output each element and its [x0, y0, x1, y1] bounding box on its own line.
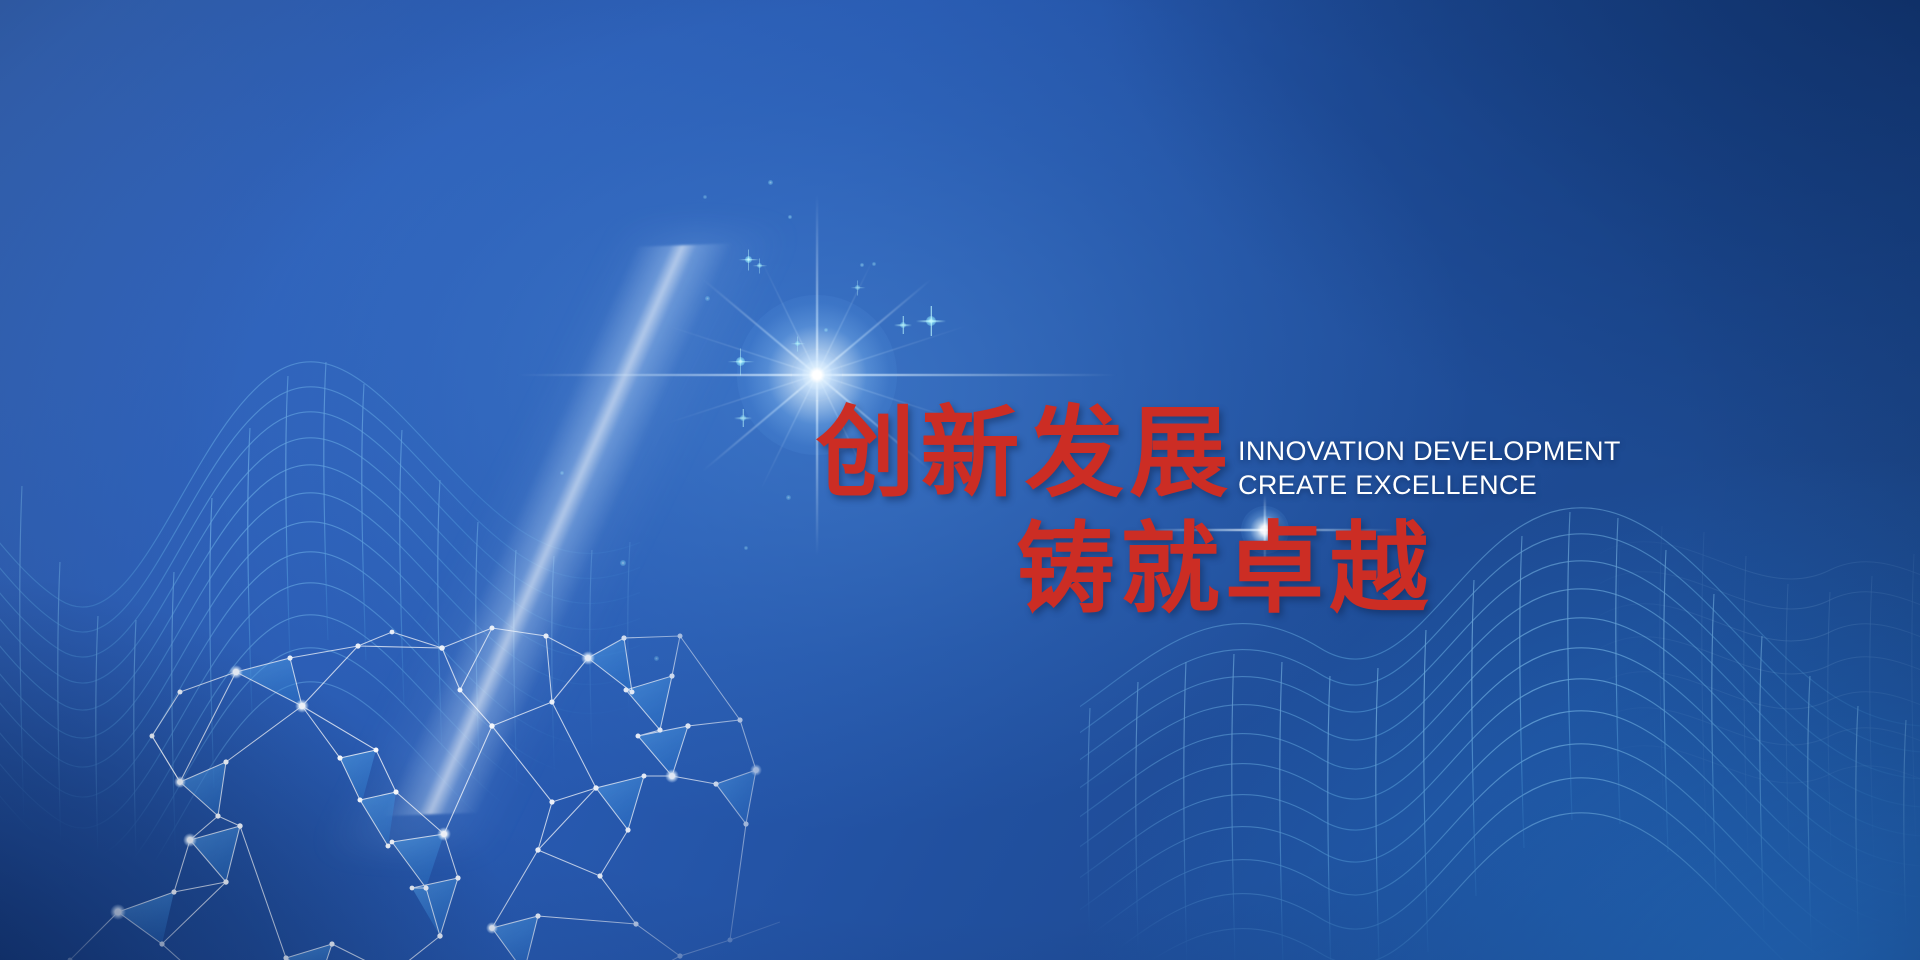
- sparkle-19: [560, 471, 564, 475]
- sparkle-4: [900, 322, 906, 328]
- network-constellation: [40, 540, 780, 960]
- headline-line-1: 创新发展: [816, 404, 1234, 503]
- sparkle-16: [620, 560, 626, 566]
- sparkle-8: [855, 285, 860, 290]
- sparkle-10: [788, 215, 792, 219]
- subtitle-line-2: CREATE EXCELLENCE: [1238, 470, 1621, 501]
- sparkle-12: [824, 328, 828, 332]
- sparkle-6: [795, 341, 800, 346]
- sparkle-15: [872, 262, 876, 266]
- sparkle-18: [654, 656, 659, 661]
- sparkle-1: [745, 256, 752, 263]
- banner-canvas: 创新发展 铸就卓越 INNOVATION DEVELOPMENT CREATE …: [0, 0, 1920, 960]
- subtitle-line-1: INNOVATION DEVELOPMENT: [1238, 436, 1621, 467]
- sparkle-14: [703, 195, 707, 199]
- sparkle-9: [768, 180, 773, 185]
- subtitle-block: INNOVATION DEVELOPMENT CREATE EXCELLENCE: [1238, 436, 1621, 500]
- sparkle-20: [744, 546, 748, 550]
- sparkle-13: [705, 296, 710, 301]
- sparkle-17: [786, 495, 791, 500]
- sparkle-7: [740, 415, 746, 421]
- sparkle-11: [860, 263, 864, 267]
- sparkle-2: [757, 263, 762, 268]
- sparkle-3: [926, 316, 936, 326]
- headline-line-2: 铸就卓越: [1016, 520, 1434, 619]
- sparkle-5: [736, 357, 745, 366]
